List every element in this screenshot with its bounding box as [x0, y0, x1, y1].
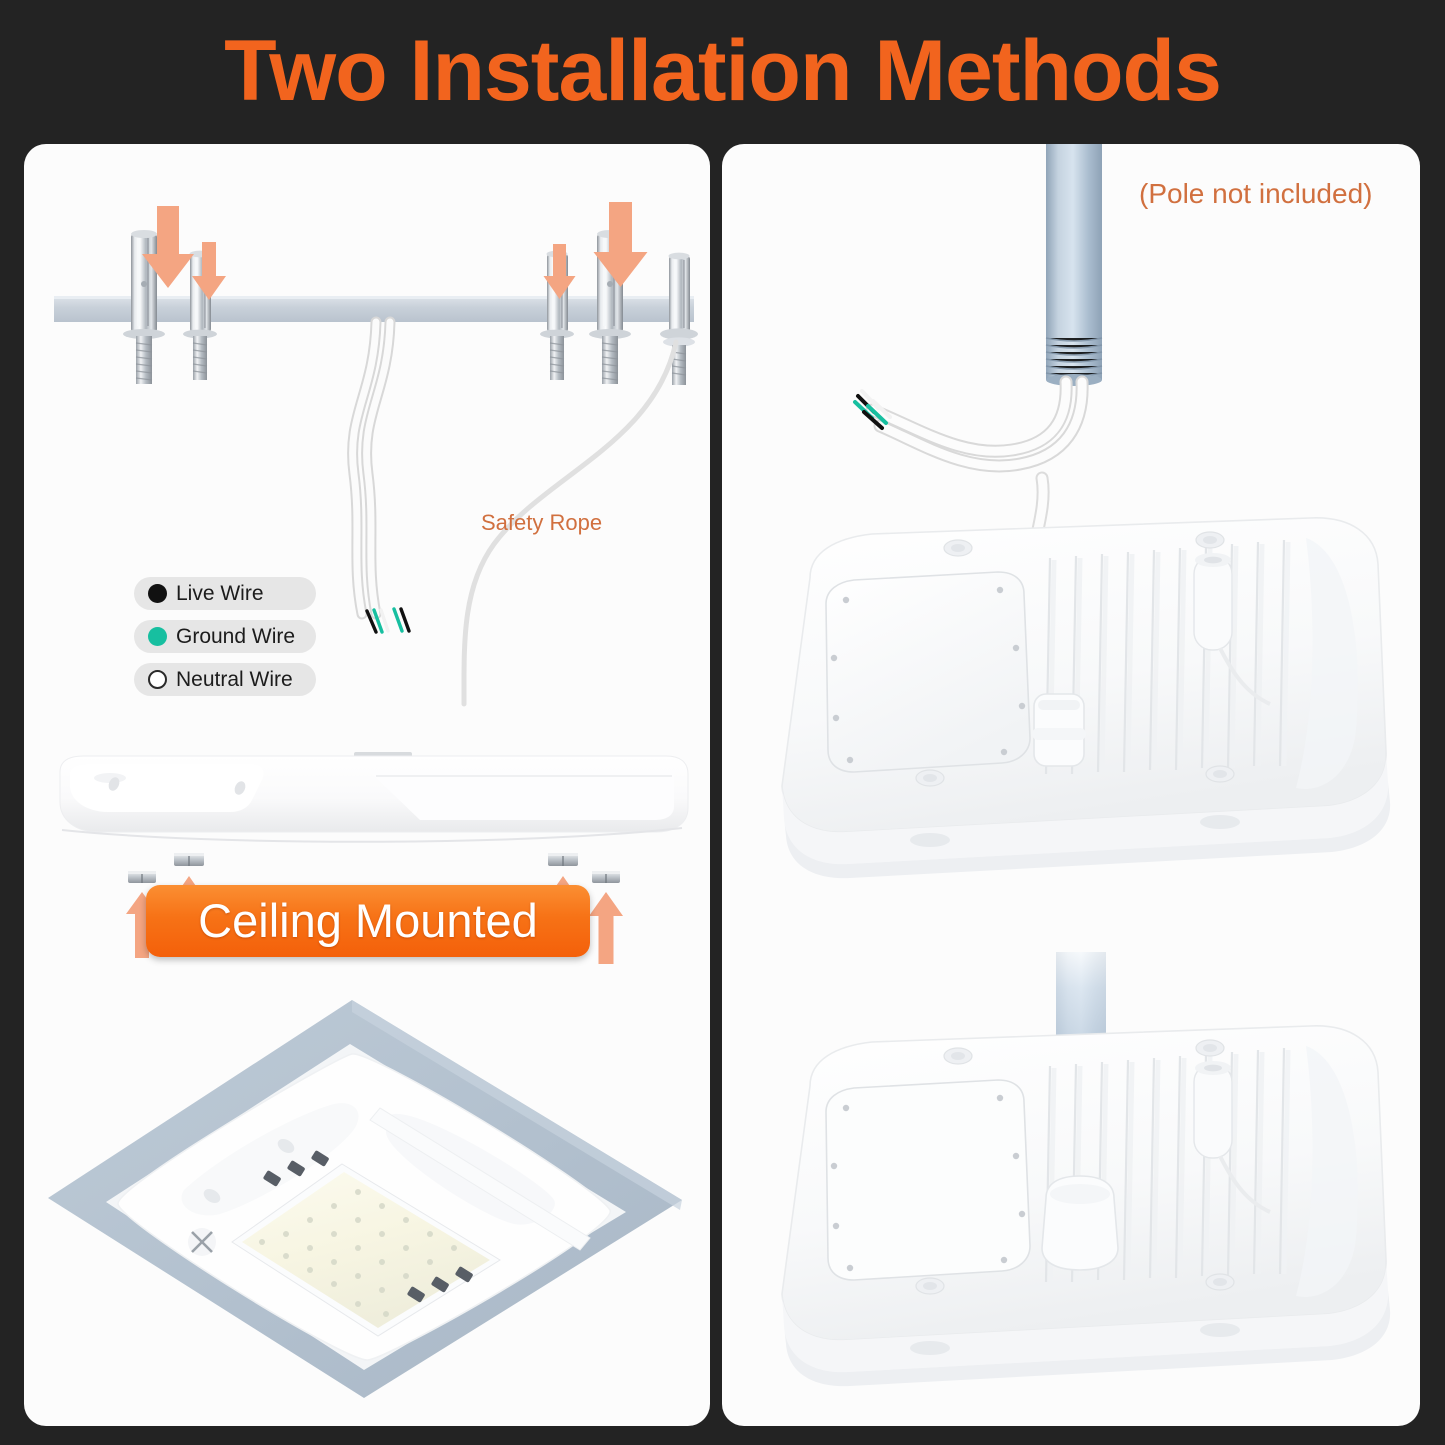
- up-arrow-icon: [589, 892, 623, 964]
- wire-conductor-ends: [367, 609, 409, 632]
- panel-ceiling-mounted: Live Wire Ground Wire Neutral Wire: [24, 144, 710, 1426]
- live-wire-swatch-icon: [148, 584, 167, 603]
- panel-piping-mounted: (Pole not included): [722, 144, 1420, 1426]
- driver-box: [826, 1080, 1030, 1280]
- legend-label: Neutral Wire: [176, 668, 293, 692]
- legend-item-live-wire: Live Wire: [134, 577, 316, 610]
- fixture-top-view-with-cable: [750, 482, 1402, 916]
- ceiling-mounted-label: Ceiling Mounted: [146, 885, 590, 957]
- cross-screw-icon: [188, 1228, 216, 1256]
- hex-nut: [174, 853, 204, 866]
- neutral-wire-swatch-icon: [148, 670, 167, 689]
- hex-nut: [128, 871, 156, 883]
- ground-wire-swatch-icon: [148, 627, 167, 646]
- safety-rope-post: [1194, 553, 1232, 650]
- hex-nut: [548, 853, 578, 866]
- hex-nut: [592, 871, 620, 883]
- legend-label: Ground Wire: [176, 625, 295, 649]
- wiring-and-safety-rope: [24, 144, 710, 824]
- mounting-pole: [1046, 144, 1102, 334]
- pole-not-included-label: (Pole not included): [1139, 178, 1372, 210]
- driver-box: [826, 572, 1030, 772]
- safety-rope-post: [1194, 1061, 1232, 1158]
- cable-gland: [1032, 694, 1086, 766]
- piping-installed-view: [750, 962, 1402, 1414]
- legend-item-neutral-wire: Neutral Wire: [134, 663, 316, 696]
- safety-rope-label: Safety Rope: [481, 510, 602, 536]
- ceiling-installed-view: [34, 984, 700, 1414]
- wire-conductor-ends: [855, 391, 890, 428]
- infographic-stage: Two Installation Methods: [0, 0, 1445, 1445]
- page-title: Two Installation Methods: [0, 26, 1445, 116]
- legend-label: Live Wire: [176, 582, 264, 606]
- wire-legend: Live Wire Ground Wire Neutral Wire: [134, 577, 316, 706]
- pole-collar: [1042, 1176, 1118, 1270]
- legend-item-ground-wire: Ground Wire: [134, 620, 316, 653]
